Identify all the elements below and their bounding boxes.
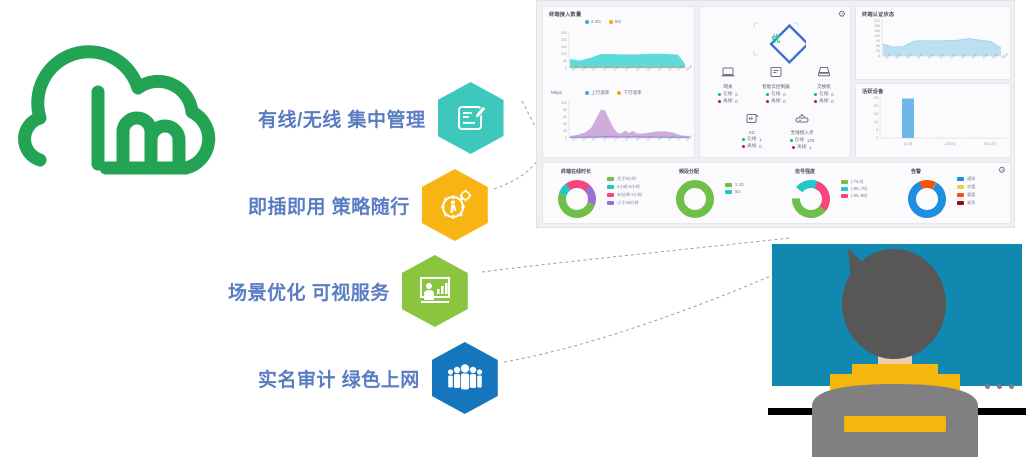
device-online: 在线: 0 bbox=[800, 91, 848, 97]
legend-item: 重要 bbox=[957, 192, 975, 198]
legend-item-uplink: 上行速率 bbox=[585, 90, 609, 96]
legend-item: (-85,-70] bbox=[841, 186, 867, 191]
feature-label-2: 即插即用 策略随行 bbox=[248, 192, 410, 219]
legend-item: 大于8小时 bbox=[607, 176, 642, 182]
svg-text:150: 150 bbox=[561, 45, 567, 49]
card-network-health: ⚙ 优 网关 在线: 0 bbox=[699, 6, 851, 158]
svg-text:14:00: 14:00 bbox=[1001, 52, 1009, 60]
legend-item: 小于30分钟 bbox=[607, 200, 642, 206]
svg-text:50: 50 bbox=[563, 59, 567, 63]
legend-item: (-70,0] bbox=[841, 179, 867, 184]
svg-text:20: 20 bbox=[874, 104, 878, 108]
donut-legend-band-allocation: 2.4G 5G bbox=[725, 182, 744, 194]
donut-band-allocation: 频段分配 2.4G 5G bbox=[667, 166, 783, 224]
svg-text:90: 90 bbox=[876, 39, 880, 43]
svg-text:15: 15 bbox=[874, 112, 878, 116]
device-wireless-ap: 无线接入点 在线: 138 离线: 1 bbox=[778, 111, 826, 150]
device-name: 交换机 bbox=[800, 84, 848, 90]
svg-text:(50,127]: (50,127] bbox=[984, 142, 996, 146]
donut-title: 信号强度 bbox=[795, 168, 815, 175]
legend-item-24g: 2.4G bbox=[585, 19, 601, 24]
legend-item: 通知 bbox=[957, 176, 975, 182]
legend-item: 2.4G bbox=[725, 182, 744, 187]
svg-text:200: 200 bbox=[561, 38, 567, 42]
donut-alarm: 告警 通知 次要 重要 紧急 bbox=[899, 166, 1015, 224]
svg-text:80: 80 bbox=[563, 108, 567, 112]
svg-text:120: 120 bbox=[874, 34, 880, 38]
chart-active-devices-bar: 25 20 15 10 5 0 (0,25] (25,50] (50, bbox=[858, 94, 1010, 158]
svg-text:100: 100 bbox=[561, 101, 567, 105]
svg-text:20: 20 bbox=[563, 129, 567, 133]
svg-text:0: 0 bbox=[878, 54, 880, 58]
legend-item: (-95,-85] bbox=[841, 193, 867, 198]
svg-text:100: 100 bbox=[561, 52, 567, 56]
feature-item-2[interactable]: 即插即用 策略随行 bbox=[248, 169, 488, 241]
ac-icon bbox=[745, 112, 759, 124]
donut-signal-strength: 信号强度 (-70,0] (-85,-70] (-95,-85] bbox=[783, 166, 899, 224]
card-active-devices: 活跃设备 25 20 15 10 5 0 (0,25] bbox=[855, 83, 1011, 158]
donut-chart-alarm bbox=[905, 177, 949, 221]
donut-legend-signal-strength: (-70,0] (-85,-70] (-95,-85] bbox=[841, 179, 867, 198]
device-offline: 离线: 0 bbox=[800, 98, 848, 104]
wireless-ap-icon bbox=[794, 112, 810, 124]
cloud-controller-icon bbox=[769, 66, 783, 78]
device-name: 网关 bbox=[704, 84, 752, 90]
health-score-text: 优 bbox=[771, 33, 780, 44]
feature-label-4: 实名审计 绿色上网 bbox=[258, 365, 420, 392]
legend-item: 30分钟-2小时 bbox=[607, 192, 642, 198]
clm-cloud-logo bbox=[10, 40, 250, 200]
device-online: 在线: 138 bbox=[778, 137, 826, 143]
chart-auth-status-area: 210 180 150 120 90 60 30 0 16:00 18:00 2… bbox=[858, 17, 1010, 79]
chart-terminal-count-area: 250 200 150 100 50 0 16:00 18:00 20:00 2… bbox=[545, 27, 695, 89]
gear-icon[interactable]: ⚙ bbox=[838, 10, 846, 19]
legend-rate: 上行速率 下行速率 bbox=[585, 90, 642, 96]
svg-text:5: 5 bbox=[876, 128, 878, 132]
feature-label-1: 有线/无线 集中管理 bbox=[258, 105, 426, 132]
device-name: 无线接入点 bbox=[778, 130, 826, 136]
device-switch: 交换机 在线: 0 离线: 0 bbox=[800, 65, 848, 104]
health-score-badge: 优 bbox=[746, 13, 806, 65]
donut-chart-band-allocation bbox=[673, 177, 717, 221]
device-name: AC bbox=[728, 130, 776, 135]
gateway-icon bbox=[721, 66, 735, 78]
donut-title: 告警 bbox=[911, 168, 921, 175]
feature-item-3[interactable]: 场景优化 可视服务 bbox=[228, 255, 468, 327]
feature-hex-2[interactable] bbox=[422, 169, 488, 241]
svg-text:0: 0 bbox=[565, 66, 567, 70]
svg-text:0: 0 bbox=[565, 136, 567, 140]
gear-person-icon bbox=[422, 169, 488, 241]
card-terminal-traffic: 终端接入数量 2.4G 5G 250 200 150 100 50 bbox=[542, 6, 695, 158]
svg-text:60: 60 bbox=[876, 44, 880, 48]
device-ac: AC 在线: 1 离线: 0 bbox=[728, 111, 776, 149]
donut-chart-signal-strength bbox=[789, 177, 833, 221]
device-online: 在线: 0 bbox=[704, 91, 752, 97]
svg-text:14:00: 14:00 bbox=[685, 64, 693, 72]
donut-legend-alarm: 通知 次要 重要 紧急 bbox=[957, 176, 975, 206]
svg-text:210: 210 bbox=[874, 19, 880, 23]
rate-unit-label: Mbps bbox=[551, 90, 562, 95]
svg-text:25: 25 bbox=[874, 96, 878, 100]
svg-text:(25,50]: (25,50] bbox=[945, 142, 956, 146]
svg-text:14:00: 14:00 bbox=[685, 134, 693, 142]
svg-text:(0,25]: (0,25] bbox=[904, 142, 913, 146]
svg-text:250: 250 bbox=[561, 31, 567, 35]
device-offline: 离线: 1 bbox=[778, 144, 826, 150]
device-offline: 离线: 0 bbox=[728, 143, 776, 149]
donut-title: 频段分配 bbox=[679, 168, 699, 175]
person-at-monitor-illustration bbox=[768, 238, 1026, 457]
legend-item-downlink: 下行速率 bbox=[617, 90, 641, 96]
svg-text:180: 180 bbox=[874, 24, 880, 28]
svg-text:10: 10 bbox=[874, 120, 878, 124]
feature-item-4[interactable]: 实名审计 绿色上网 bbox=[258, 342, 498, 414]
legend-item-5g: 5G bbox=[609, 19, 621, 24]
device-name: 智能云控制器 bbox=[752, 84, 800, 90]
feature-item-1[interactable]: 有线/无线 集中管理 bbox=[258, 82, 504, 154]
dashboard-panel: 终端接入数量 2.4G 5G 250 200 150 100 50 bbox=[536, 0, 1015, 228]
device-cloud-controller: 智能云控制器 在线: 0 离线: 0 bbox=[752, 65, 800, 104]
card-title-terminal-count: 终端接入数量 bbox=[549, 11, 581, 18]
people-group-icon bbox=[432, 342, 498, 414]
donut-title: 终端在线时长 bbox=[561, 168, 591, 175]
slide-canvas: 有线/无线 集中管理 即插即用 策略随行 bbox=[0, 0, 1026, 457]
donut-legend-online-duration: 大于8小时 2小时-8小时 30分钟-2小时 小于30分钟 bbox=[607, 176, 642, 206]
device-online: 在线: 0 bbox=[752, 91, 800, 97]
donut-online-duration: 终端在线时长 大于8小时 2小时-8小时 30分钟-2小时 小于30分钟 bbox=[549, 166, 665, 224]
feature-hex-1[interactable] bbox=[438, 82, 504, 154]
device-online: 在线: 1 bbox=[728, 136, 776, 142]
feature-hex-4[interactable] bbox=[432, 342, 498, 414]
card-donut-strip: ⚙ 终端在线时长 大于8小时 2小时-8小时 30分钟-2小时 小于30 bbox=[542, 162, 1011, 224]
svg-text:40: 40 bbox=[563, 122, 567, 126]
svg-text:60: 60 bbox=[563, 115, 567, 119]
feature-hex-3[interactable] bbox=[402, 255, 468, 327]
donut-chart-online-duration bbox=[555, 177, 599, 221]
device-gateway: 网关 在线: 0 离线: 0 bbox=[704, 65, 752, 104]
feature-label-3: 场景优化 可视服务 bbox=[228, 278, 390, 305]
loading-dots-icon bbox=[985, 384, 1014, 389]
switch-icon bbox=[817, 66, 831, 78]
legend-item: 紧急 bbox=[957, 200, 975, 206]
device-offline: 离线: 0 bbox=[704, 98, 752, 104]
svg-text:150: 150 bbox=[874, 29, 880, 33]
svg-text:0: 0 bbox=[876, 136, 878, 140]
legend-item: 2小时-8小时 bbox=[607, 184, 642, 190]
card-auth-status: 终端认证状态 210 180 150 120 90 60 30 0 16:00 bbox=[855, 6, 1011, 80]
device-offline: 离线: 0 bbox=[752, 98, 800, 104]
svg-text:30: 30 bbox=[876, 49, 880, 53]
chart-rate-area: 100 80 60 40 20 0 16:00 18:00 20:00 22:0… bbox=[545, 97, 695, 159]
document-pen-icon bbox=[438, 82, 504, 154]
legend-terminal-count: 2.4G 5G bbox=[585, 19, 621, 24]
legend-item: 次要 bbox=[957, 184, 975, 190]
legend-item: 5G bbox=[725, 189, 744, 194]
presentation-chart-icon bbox=[402, 255, 468, 327]
